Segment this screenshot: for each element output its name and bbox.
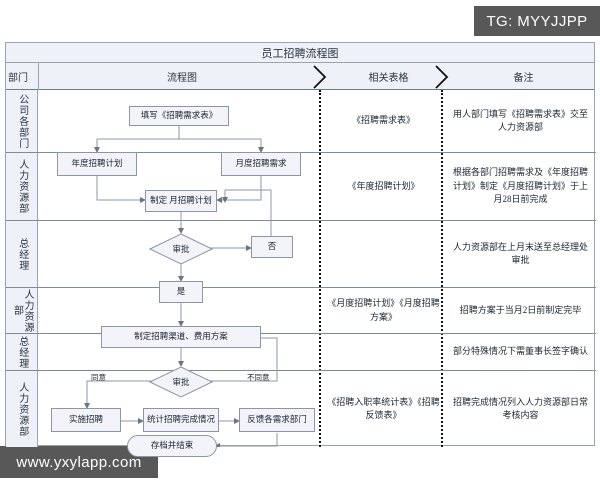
related-form-cell: 《招聘需求表》 bbox=[326, 90, 441, 152]
department-label: 人力资源部 bbox=[16, 382, 27, 437]
department-label: 人力资源部 bbox=[11, 288, 32, 333]
flow-node-label: 审批 bbox=[172, 243, 189, 255]
flow-node-feedback-departments[interactable]: 反馈各需求部门 bbox=[239, 408, 315, 432]
related-form-cell: 《招聘入职率统计表》《招聘反馈表》 bbox=[326, 371, 441, 447]
department-label: 人力资源部 bbox=[16, 159, 27, 214]
flow-node-channel-cost-plan[interactable]: 制定招聘渠道、费用方案 bbox=[101, 326, 261, 348]
header-department-divider bbox=[38, 63, 39, 90]
related-form-cell bbox=[326, 221, 441, 287]
related-form-cell: 《年度招聘计划》 bbox=[326, 153, 441, 220]
remark-cell: 根据各部门招聘需求及《年度招聘计划》制定《月度招聘计划》于上月28日前完成 bbox=[447, 153, 594, 220]
related-form-cell bbox=[326, 334, 441, 370]
department-cell: 总经理 bbox=[6, 334, 38, 370]
flow-node-execute-recruitment[interactable]: 实施招聘 bbox=[51, 408, 121, 432]
tg-watermark-badge: TG: MYYJJPP bbox=[474, 6, 600, 36]
flow-node-reject[interactable]: 否 bbox=[251, 236, 293, 258]
process-table: 员工招聘流程图 部门 流程图 相关表格 备注 公司各部门 《招聘需求表》 用人部… bbox=[5, 42, 595, 446]
flow-node-approve[interactable]: 是 bbox=[159, 281, 203, 303]
remark-cell: 人力资源部在上月末送至总经理处审批 bbox=[447, 221, 594, 287]
edge-label-disagree: 不同意 bbox=[247, 372, 270, 383]
column-header-related-forms: 相关表格 bbox=[326, 63, 451, 89]
flow-node-annual-plan[interactable]: 年度招聘计划 bbox=[57, 152, 137, 176]
column-header-department: 部门 bbox=[6, 63, 40, 89]
department-label: 公司各部门 bbox=[16, 94, 27, 149]
flow-node-approval-2[interactable]: 审批 bbox=[149, 366, 213, 398]
flow-node-archive-end[interactable]: 存档并结束 bbox=[127, 435, 217, 457]
department-cell: 公司各部门 bbox=[6, 90, 38, 152]
remark-cell: 招聘方案于当月2日前制定完毕 bbox=[447, 288, 594, 333]
department-label: 总经理 bbox=[16, 238, 27, 271]
table-title: 员工招聘流程图 bbox=[6, 43, 594, 63]
flow-node-fill-demand-form[interactable]: 填写《招聘需求表》 bbox=[129, 106, 229, 126]
remark-cell: 招聘完成情况列入人力资源部日常考核内容 bbox=[447, 371, 594, 447]
table-column-header-row: 部门 流程图 相关表格 备注 bbox=[6, 63, 594, 90]
flow-node-statistics[interactable]: 统计招聘完成情况 bbox=[143, 408, 219, 432]
remark-cell: 用人部门填写《招聘需求表》交至人力资源部 bbox=[447, 90, 594, 152]
flow-node-monthly-demand[interactable]: 月度招聘需求 bbox=[221, 152, 301, 176]
flowchart-canvas: 填写《招聘需求表》 年度招聘计划 月度招聘需求 制定 月招聘计划 审批 否 是 … bbox=[39, 90, 319, 447]
edge-label-agree: 同意 bbox=[91, 372, 106, 383]
flow-node-make-monthly-plan[interactable]: 制定 月招聘计划 bbox=[145, 190, 217, 212]
department-cell: 人力资源部 bbox=[6, 371, 38, 447]
column-header-flowchart: 流程图 bbox=[38, 63, 326, 89]
department-cell: 人力资源部 bbox=[6, 153, 38, 220]
flow-node-label: 审批 bbox=[172, 376, 189, 388]
column-header-remarks: 备注 bbox=[451, 63, 596, 89]
department-label: 总经理 bbox=[16, 336, 27, 369]
remark-cell: 部分特殊情况下需董事长签字确认 bbox=[447, 334, 594, 370]
flow-node-approval-1[interactable]: 审批 bbox=[149, 233, 213, 265]
related-form-cell: 《月度招聘计划》《月度招聘方案》 bbox=[326, 288, 441, 333]
department-cell: 总经理 bbox=[6, 221, 38, 287]
screenshot-root: TG: MYYJJPP www.yxylapp.com 员工招聘流程图 部门 流… bbox=[0, 0, 600, 480]
department-cell: 人力资源部 bbox=[6, 288, 38, 333]
